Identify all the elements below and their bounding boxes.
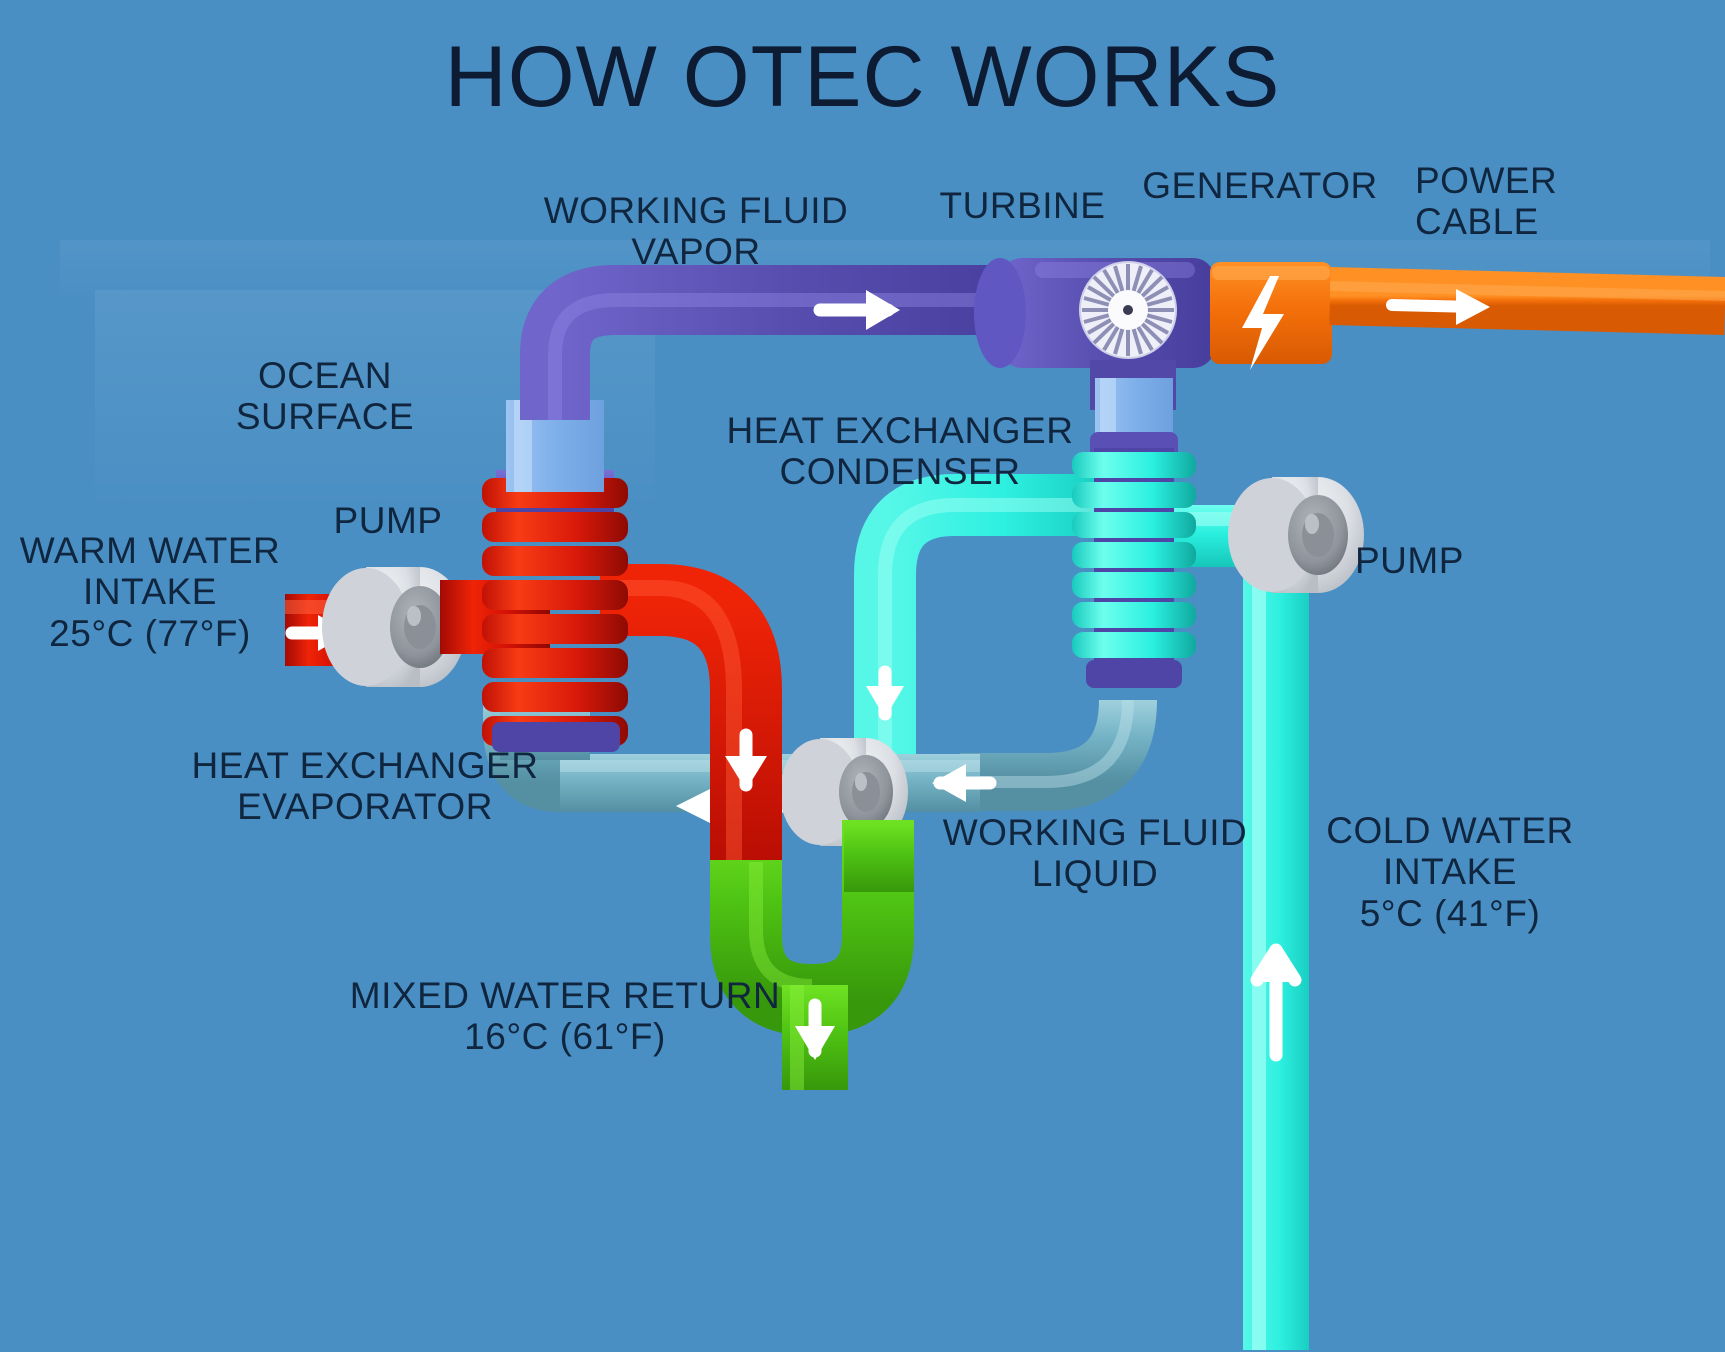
label-mixed-water-return: MIXED WATER RETURN 16°C (61°F) xyxy=(330,975,800,1058)
cold-water-condenser-loop xyxy=(885,505,1100,760)
label-heat-exchanger-condenser: HEAT EXCHANGER CONDENSER xyxy=(700,410,1100,493)
page-title: HOW OTEC WORKS xyxy=(0,28,1725,127)
condenser-outlet-elbow xyxy=(960,700,1128,782)
pump-right[interactable] xyxy=(1228,477,1364,593)
otec-diagram: HOW OTEC WORKS WORKING FLUID VAPOR TURBI… xyxy=(0,0,1725,1352)
label-turbine: TURBINE xyxy=(915,185,1130,226)
label-working-fluid-liquid: WORKING FLUID LIQUID xyxy=(930,812,1260,895)
label-heat-exchanger-evaporator: HEAT EXCHANGER EVAPORATOR xyxy=(180,745,550,828)
label-power-cable: POWER CABLE xyxy=(1415,160,1715,243)
label-working-fluid-vapor: WORKING FLUID VAPOR xyxy=(506,190,886,273)
label-pump-left: PUMP xyxy=(288,500,488,541)
label-ocean-surface: OCEAN SURFACE xyxy=(165,355,485,438)
turbine-fan-icon xyxy=(1080,262,1176,358)
mixed-water-right-segment xyxy=(844,822,914,892)
label-generator: GENERATOR xyxy=(1120,165,1400,206)
label-warm-water-intake: WARM WATER INTAKE 25°C (77°F) xyxy=(10,530,290,654)
working-fluid-vapor-pipe xyxy=(555,300,1035,420)
label-pump-right: PUMP xyxy=(1355,540,1555,581)
label-cold-water-intake: COLD WATER INTAKE 5°C (41°F) xyxy=(1300,810,1600,934)
